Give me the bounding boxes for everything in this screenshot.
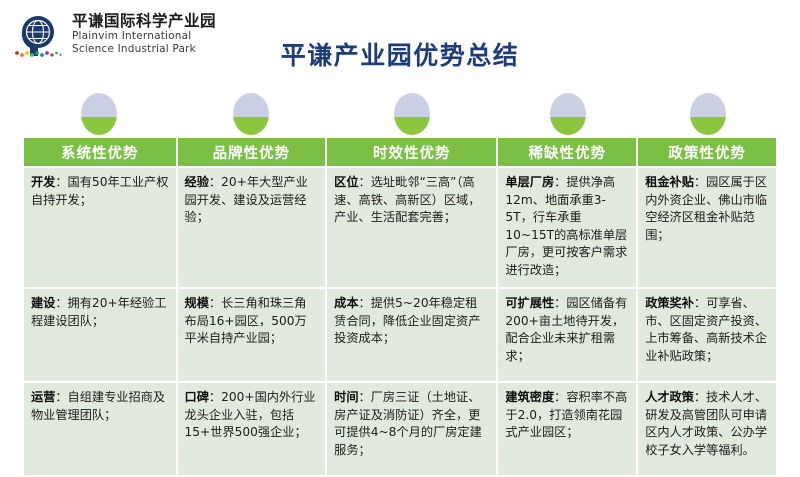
column-header-systematic: 系统性优势 <box>24 138 176 166</box>
bubble-icon-strip <box>22 92 778 136</box>
cell-systematic-3: 运营：自组建专业招商及物业管理团队； <box>24 383 176 475</box>
page-title: 平谦产业园优势总结 <box>0 36 800 72</box>
cell-systematic-2: 建设：拥有20+年经验工程建设团队； <box>24 289 176 381</box>
cell-scarcity-1: 单层厂房：提供净高12m、地面承重3-5T，行车承重10~15T的高标准单层厂房… <box>498 168 636 287</box>
half-filled-circle-icon <box>394 93 430 135</box>
table-row: 开发：国有50年工业产权自持开发； 经验：20+年大型产业园开发、建设及运营经验… <box>24 168 776 287</box>
bubble-cell-3 <box>498 92 638 136</box>
bubble-cell-2 <box>326 92 498 136</box>
table-row: 建设：拥有20+年经验工程建设团队； 规模：长三角和珠三角布局16+园区，500… <box>24 289 776 381</box>
cell-label: 单层厂房 <box>505 175 554 189</box>
bubble-cell-4 <box>638 92 778 136</box>
half-filled-circle-icon <box>81 93 117 135</box>
cell-label: 运营 <box>31 390 55 404</box>
cell-label: 时间 <box>334 390 358 404</box>
half-filled-circle-icon <box>550 93 586 135</box>
cell-label: 区位 <box>334 175 358 189</box>
half-filled-circle-icon <box>690 93 726 135</box>
column-header-scarcity: 稀缺性优势 <box>498 138 636 166</box>
cell-label: 人才政策 <box>645 390 694 404</box>
cell-timeliness-2: 成本：提供5~20年稳定租赁合同，降低企业固定资产投资成本； <box>327 289 496 381</box>
cell-label: 规模 <box>185 296 209 310</box>
advantages-table: 系统性优势 品牌性优势 时效性优势 稀缺性优势 政策性优势 开发：国有50年工业… <box>22 136 778 477</box>
cell-label: 经验 <box>185 175 209 189</box>
cell-brand-2: 规模：长三角和珠三角布局16+园区，500万平米自持产业园； <box>178 289 326 381</box>
cell-brand-3: 口碑：200+国内外行业龙头企业入驻，包括15+世界500强企业； <box>178 383 326 475</box>
column-header-timeliness: 时效性优势 <box>327 138 496 166</box>
cell-scarcity-3: 建筑密度：容积率不高于2.0，打造领南花园式产业园区； <box>498 383 636 475</box>
column-header-policy: 政策性优势 <box>638 138 776 166</box>
cell-label: 可扩展性 <box>505 296 554 310</box>
cell-label: 建设 <box>31 296 55 310</box>
cell-scarcity-2: 可扩展性：园区储备有200+亩土地待开发，配合企业未来扩租需求； <box>498 289 636 381</box>
table-header-row: 系统性优势 品牌性优势 时效性优势 稀缺性优势 政策性优势 <box>24 138 776 166</box>
cell-brand-1: 经验：20+年大型产业园开发、建设及运营经验； <box>178 168 326 287</box>
cell-policy-1: 租金补贴：园区属于区内外资企业、佛山市临空经济区租金补贴范围； <box>638 168 776 287</box>
cell-label: 政策奖补 <box>645 296 694 310</box>
cell-text: ：提供净高12m、地面承重3-5T，行车承重10~15T的高标准单层厂房，更可按… <box>505 175 627 277</box>
cell-timeliness-1: 区位：选址毗邻“三高”（高速、高铁、高新区）区域，产业、生活配套完善； <box>327 168 496 287</box>
bubble-cell-1 <box>176 92 326 136</box>
brand-name-cn: 平谦国际科学产业园 <box>72 12 216 30</box>
cell-timeliness-3: 时间：厂房三证（土地证、房产证及消防证）齐全，更可提供4~8个月的厂房定建服务； <box>327 383 496 475</box>
cell-label: 开发 <box>31 175 55 189</box>
half-filled-circle-icon <box>233 93 269 135</box>
table-row: 运营：自组建专业招商及物业管理团队； 口碑：200+国内外行业龙头企业入驻，包括… <box>24 383 776 475</box>
bubble-cell-0 <box>22 92 176 136</box>
column-header-brand: 品牌性优势 <box>178 138 326 166</box>
cell-policy-2: 政策奖补：可享省、市、区固定资产投资、上市筹备、高新技术企业补贴政策； <box>638 289 776 381</box>
cell-label: 口碑 <box>185 390 209 404</box>
cell-label: 成本 <box>334 296 358 310</box>
cell-policy-3: 人才政策：技术人才、研发及高管团队可申请区内人才政策、公办学校子女入学等福利。 <box>638 383 776 475</box>
cell-label: 租金补贴 <box>645 175 694 189</box>
cell-systematic-1: 开发：国有50年工业产权自持开发； <box>24 168 176 287</box>
cell-label: 建筑密度 <box>505 390 554 404</box>
